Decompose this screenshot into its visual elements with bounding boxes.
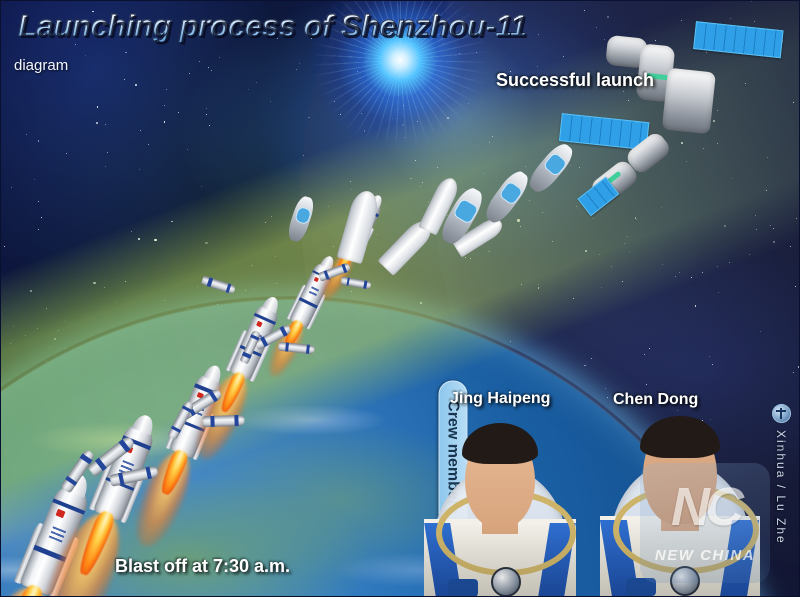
suit-gauge-icon [491, 567, 521, 597]
hair [462, 423, 538, 464]
astronaut-photo-jing-haipeng [424, 412, 576, 597]
label-blast-off: Blast off at 7:30 a.m. [115, 556, 290, 577]
spacesuit-graphic [424, 412, 576, 597]
label-successful-launch: Successful launch [496, 70, 654, 91]
xinhua-logo-icon [772, 404, 791, 423]
suit-patch [448, 579, 478, 597]
crew-name-chen-dong: Chen Dong [613, 391, 698, 409]
diagram-kind-label: diagram [14, 57, 68, 74]
solar-panel-right [693, 21, 783, 58]
infographic-canvas: Launching process of Shenzhou-11 diagram… [0, 0, 800, 597]
crew-name-jing-haipeng: Jing Haipeng [450, 390, 550, 408]
credit-text: Xinhua / Lu Zhe [774, 430, 788, 545]
watermark-text: NEW CHINA [640, 547, 770, 564]
credit-column: Xinhua / Lu Zhe [766, 404, 796, 594]
hair [640, 416, 720, 458]
nc-monogram-icon: NC [650, 471, 760, 543]
new-china-watermark: NC NEW CHINA [640, 463, 770, 583]
page-title: Launching process of Shenzhou-11 [18, 8, 527, 44]
separated-stage-piece [202, 415, 244, 427]
